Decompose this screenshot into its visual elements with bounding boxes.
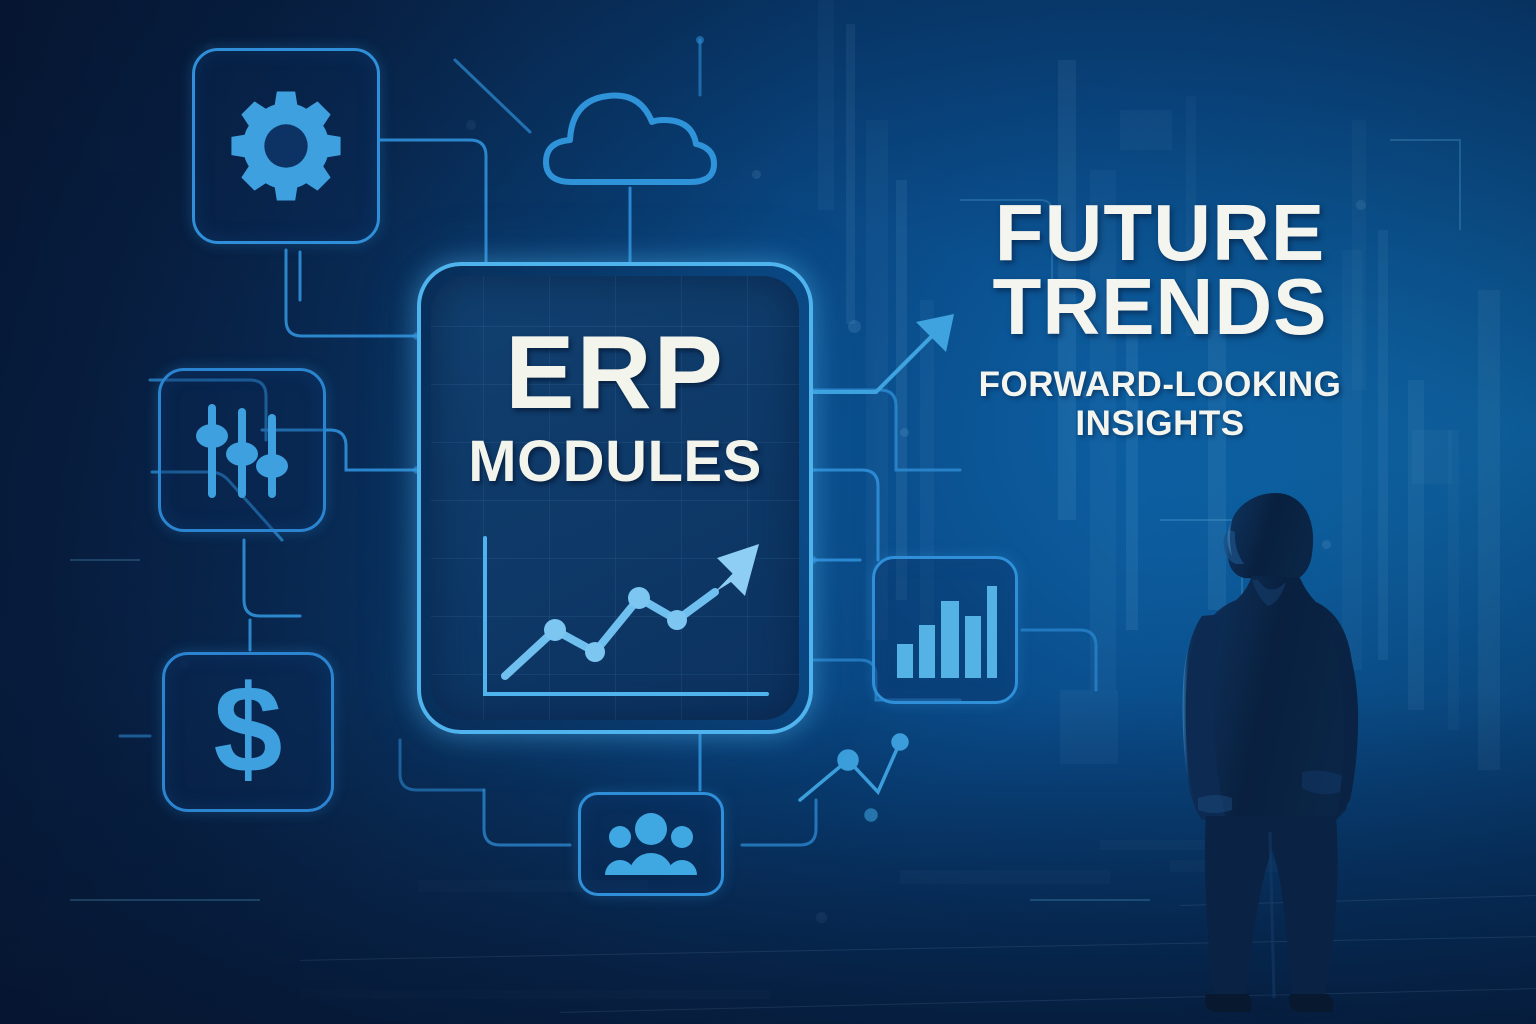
gear-icon <box>224 84 348 208</box>
sliders-icon <box>186 394 298 506</box>
bar-chart-icon <box>893 582 997 678</box>
subtitle-line-1: FORWARD-LOOKING <box>979 365 1342 404</box>
module-tile-controls[interactable] <box>158 368 326 532</box>
module-tile-hr[interactable] <box>578 792 724 896</box>
businessman-silhouette <box>1140 480 1400 1024</box>
people-group-icon <box>599 811 703 877</box>
dollar-icon: $ <box>196 672 300 792</box>
svg-text:$: $ <box>214 672 283 792</box>
module-tile-cloud[interactable] <box>528 78 728 194</box>
erp-modules-panel[interactable]: ERP MODULES <box>417 262 813 734</box>
cloud-icon <box>528 181 728 198</box>
erp-growth-chart <box>469 534 775 715</box>
module-tile-settings[interactable] <box>192 48 380 244</box>
module-tile-analytics[interactable] <box>872 556 1018 704</box>
page-subtitle: FORWARD-LOOKING INSIGHTS <box>975 365 1345 443</box>
page-title: FUTURE TRENDS <box>975 196 1345 343</box>
subtitle-line-2: INSIGHTS <box>1075 404 1244 443</box>
poster-canvas: $ <box>0 0 1536 1024</box>
headline-block: FUTURE TRENDS FORWARD-LOOKING INSIGHTS <box>975 196 1345 444</box>
erp-panel-subtitle: MODULES <box>431 428 799 495</box>
erp-panel-title: ERP <box>431 324 799 424</box>
growth-arrow-right <box>813 314 954 392</box>
erp-panel-inner: ERP MODULES <box>431 276 799 720</box>
title-line-2: TRENDS <box>993 262 1328 351</box>
module-tile-finance[interactable]: $ <box>162 652 334 812</box>
